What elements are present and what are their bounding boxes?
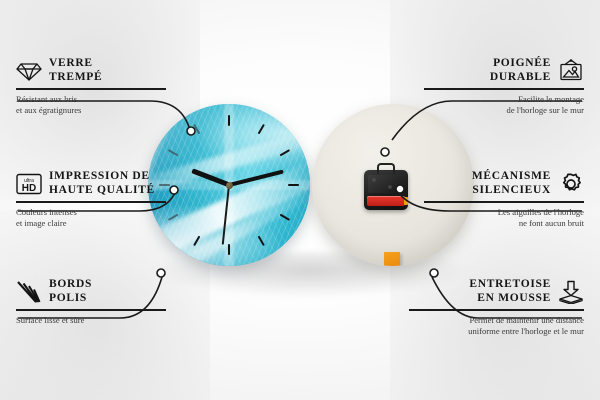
feature-header: BORDS POLIS (16, 278, 166, 305)
feature-subtitle: Surface lisse et sûre (16, 315, 166, 326)
divider (424, 88, 584, 90)
divider (409, 309, 584, 311)
feature-header: ultra HD IMPRESSION DE HAUTE QUALITÉ (16, 170, 166, 197)
feature-subtitle: Couleurs intenses et image claire (16, 207, 166, 229)
diamond-icon (16, 59, 42, 83)
feature-title: BORDS POLIS (49, 278, 92, 305)
gear-icon (558, 172, 584, 196)
foam-spacer-icon (558, 280, 584, 304)
clock-movement-module (364, 170, 408, 210)
feature-poignee-durable[interactable]: POIGNÉE DURABLE Facilite le montage de l… (424, 57, 584, 116)
ultra-hd-icon: ultra HD (16, 172, 42, 196)
hands-center-cap (226, 182, 233, 189)
feature-subtitle: Facilite le montage de l'horloge sur le … (424, 94, 584, 116)
feature-title: ENTRETOISE EN MOUSSE (469, 278, 551, 305)
feature-title: POIGNÉE DURABLE (490, 57, 551, 84)
second-hand (222, 185, 230, 245)
feature-impression-haute-qualite[interactable]: ultra HD IMPRESSION DE HAUTE QUALITÉ Cou… (16, 170, 166, 229)
feature-header: VERRE TREMPÉ (16, 57, 166, 84)
clock-front-view (148, 104, 310, 266)
ultra-hd-icon-large-text: HD (22, 183, 36, 194)
feature-verre-trempe[interactable]: VERRE TREMPÉ Résistant aux bris et aux é… (16, 57, 166, 116)
movement-details (368, 175, 404, 193)
feature-bords-polis[interactable]: BORDS POLIS Surface lisse et sûre (16, 278, 166, 326)
feature-header: MÉCANISME SILENCIEUX (424, 170, 584, 197)
feature-subtitle: Permet de maintenir une distance uniform… (409, 315, 584, 337)
infographic-canvas: VERRE TREMPÉ Résistant aux bris et aux é… (0, 0, 600, 400)
minute-hand (229, 170, 284, 187)
feature-subtitle: Les aiguilles de l'horloge ne font aucun… (424, 207, 584, 229)
feature-subtitle: Résistant aux bris et aux égratignures (16, 94, 166, 116)
hanging-handle-icon (377, 163, 395, 174)
feature-entretoise-en-mousse[interactable]: ENTRETOISE EN MOUSSE Permet de maintenir… (409, 278, 584, 337)
hour-hand (191, 168, 230, 187)
feature-title: VERRE TREMPÉ (49, 57, 102, 84)
feature-header: ENTRETOISE EN MOUSSE (409, 278, 584, 305)
clock-hands (148, 104, 310, 266)
divider (424, 201, 584, 203)
divider (16, 201, 166, 203)
feature-mecanisme-silencieux[interactable]: MÉCANISME SILENCIEUX Les aiguilles de l'… (424, 170, 584, 229)
battery (367, 196, 405, 206)
divider (16, 309, 166, 311)
foam-spacer (384, 252, 400, 266)
polished-edges-icon (16, 280, 42, 304)
hanging-frame-icon (558, 59, 584, 83)
divider (16, 88, 166, 90)
feature-title: MÉCANISME SILENCIEUX (472, 170, 551, 197)
feature-title: IMPRESSION DE HAUTE QUALITÉ (49, 170, 155, 197)
feature-header: POIGNÉE DURABLE (424, 57, 584, 84)
